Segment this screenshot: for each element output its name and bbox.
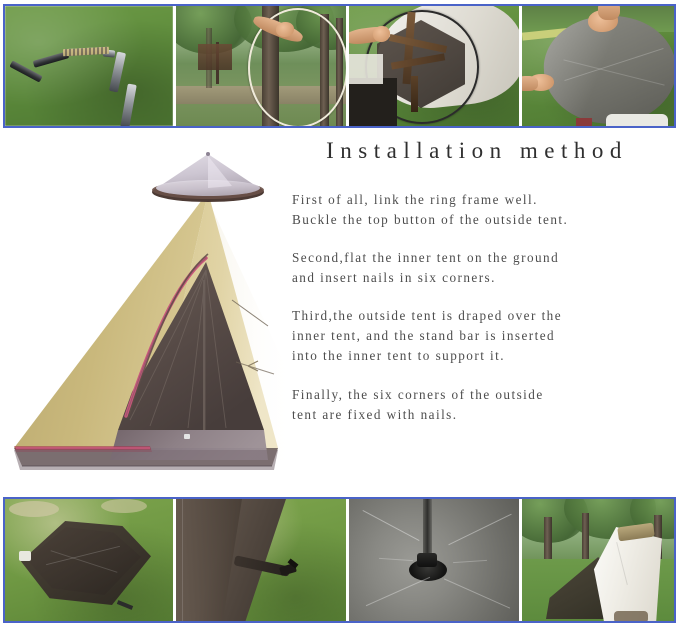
installation-photos-bottom — [3, 497, 676, 623]
photo-ring-frame — [173, 6, 346, 126]
instruction-step-2: Second,flat the inner tent on the ground… — [292, 248, 672, 288]
instruction-step-4: Finally, the six corners of the outside … — [292, 385, 672, 425]
product-installation-infographic: Installation method First of all, link t… — [0, 0, 679, 627]
middle-panel: Installation method First of all, link t… — [0, 130, 679, 495]
photo-corner-nail — [173, 499, 346, 621]
photo-inner-tent-frame — [346, 6, 519, 126]
photo-inner-tent-flat — [5, 499, 173, 621]
photo-gray-canopy — [519, 6, 676, 126]
photo-top-button — [346, 499, 519, 621]
main-tent-photo — [0, 130, 292, 485]
page-title: Installation method — [292, 138, 672, 164]
installation-photos-top — [3, 4, 676, 128]
instruction-text-column: Installation method First of all, link t… — [292, 138, 672, 425]
photo-drape-outer-tent — [519, 499, 676, 621]
instruction-step-3: Third,the outside tent is draped over th… — [292, 306, 672, 366]
photo-pole-segments — [5, 6, 173, 126]
instruction-step-1: First of all, link the ring frame well. … — [292, 190, 672, 230]
